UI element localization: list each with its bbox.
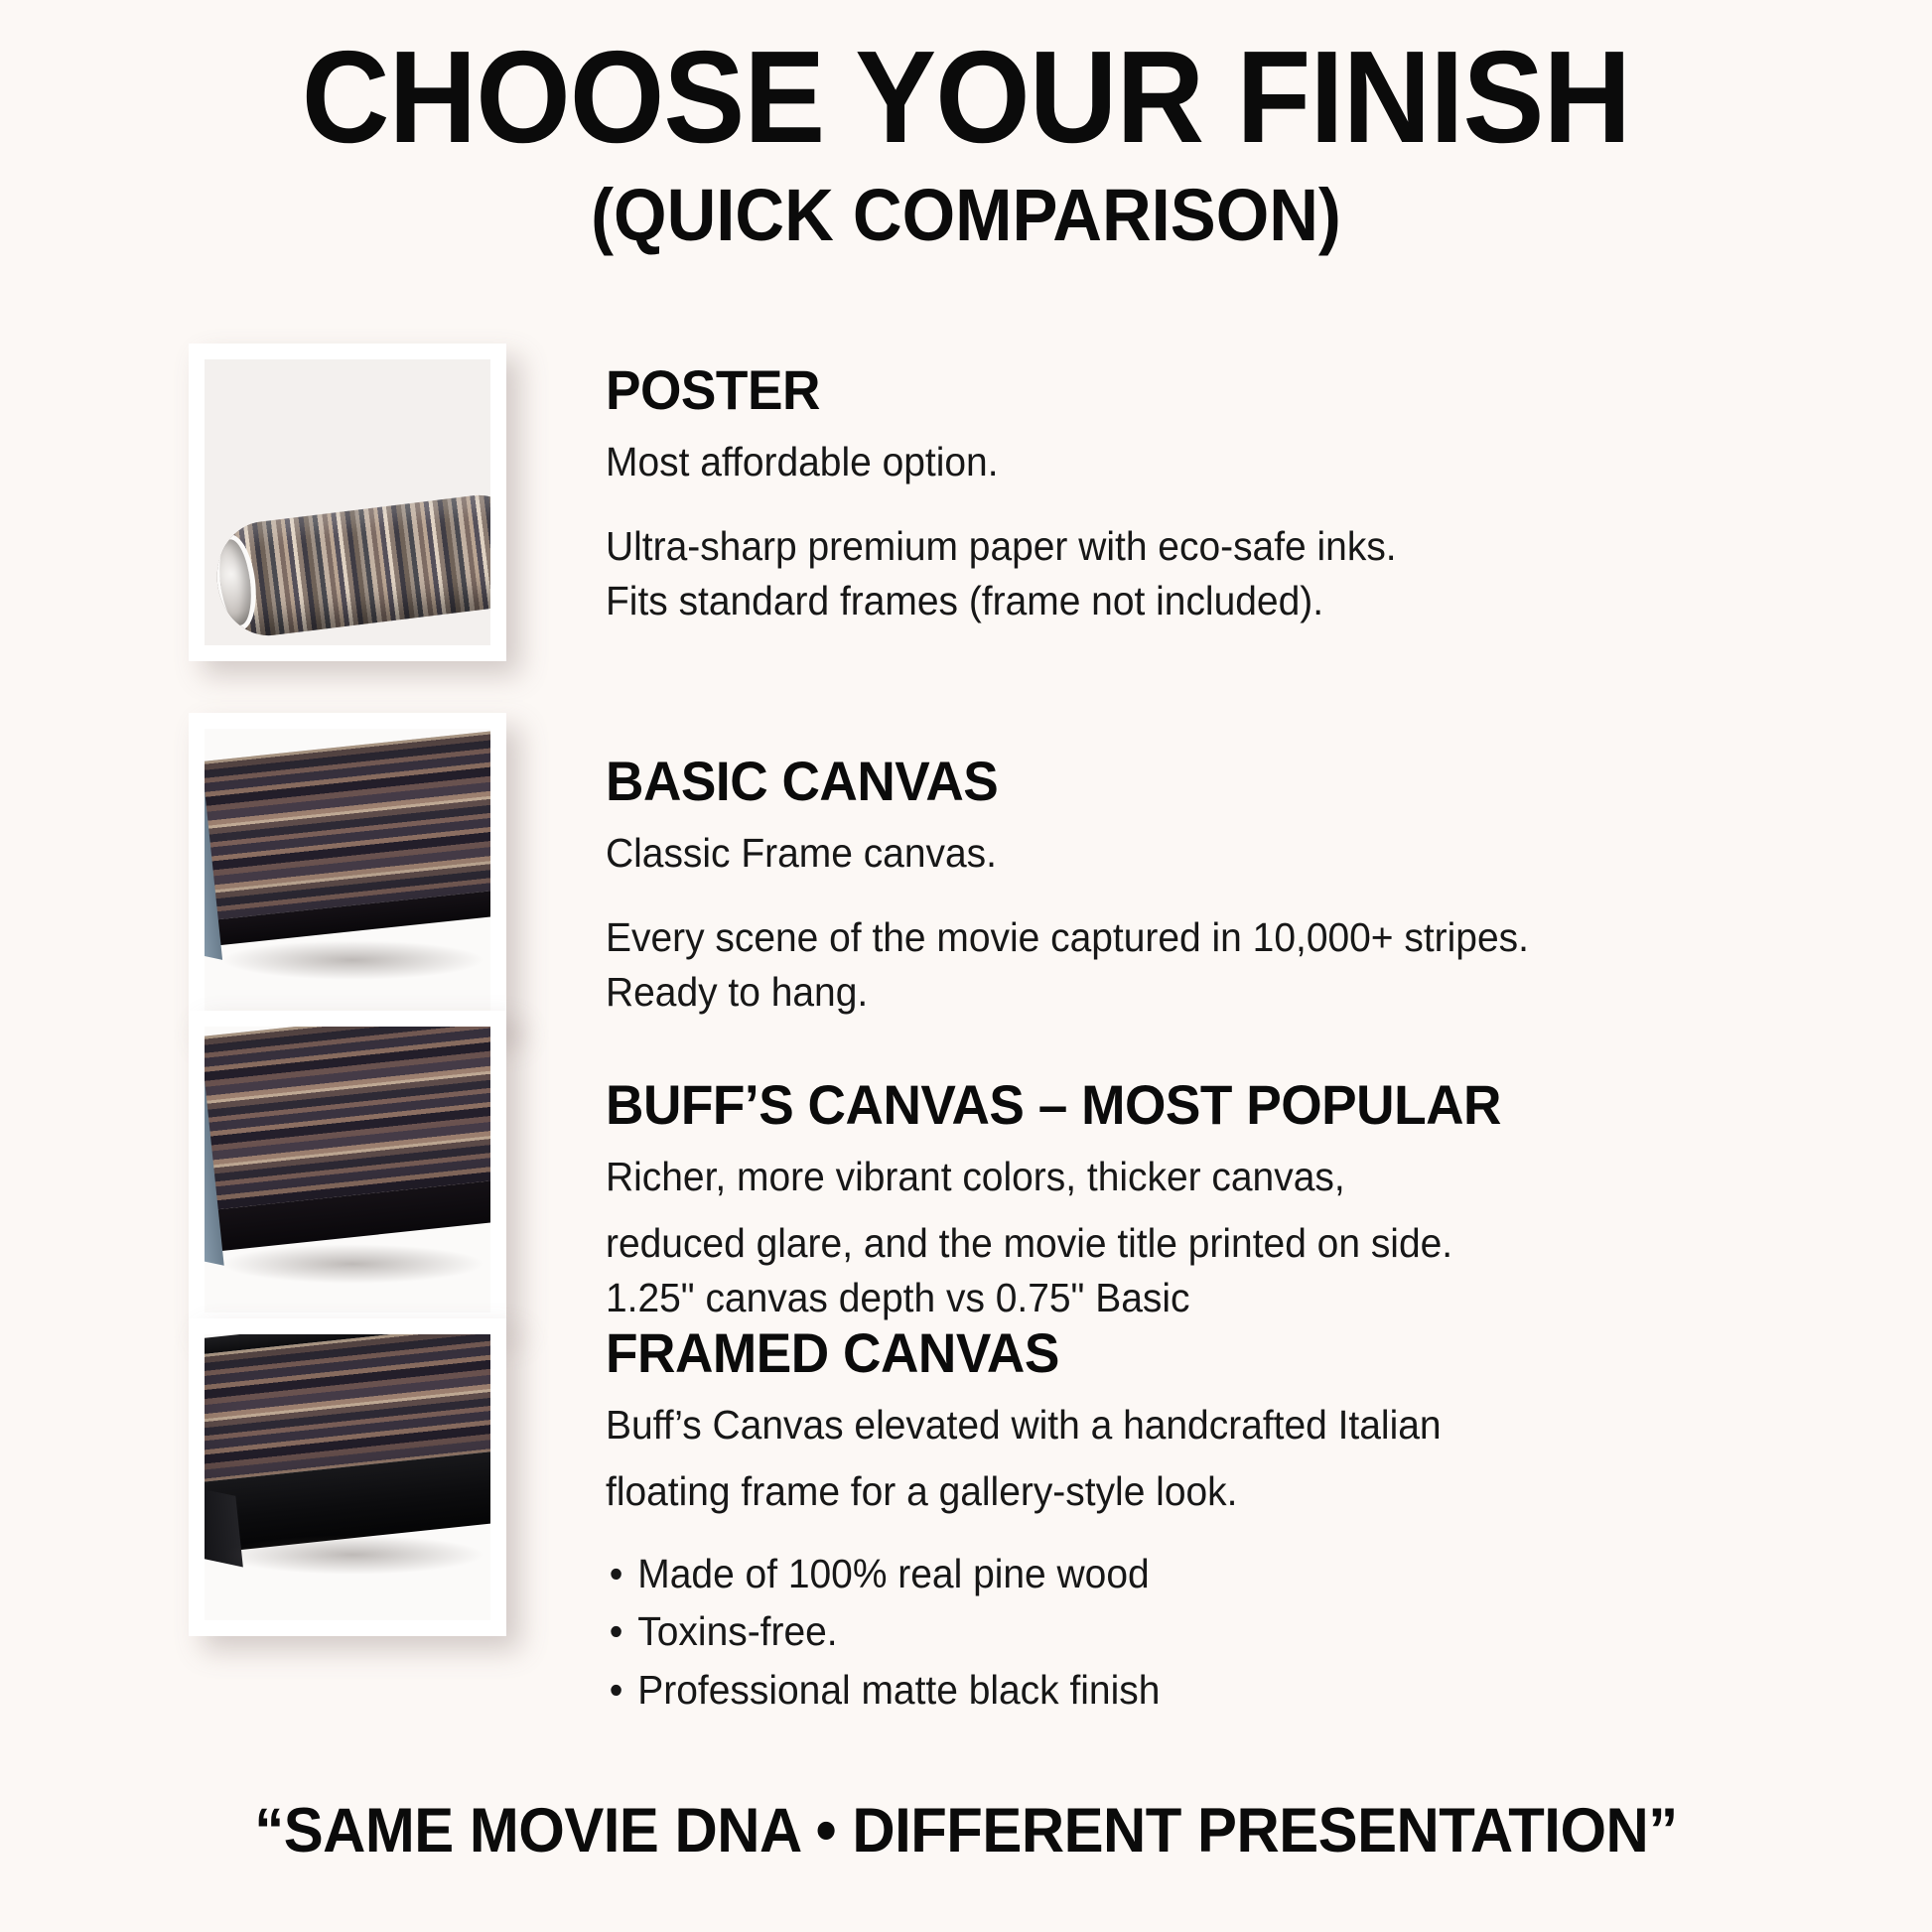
option-body-buffs-canvas: reduced glare, and the movie title print… <box>606 1216 1865 1326</box>
option-row-basic-canvas[interactable]: BASIC CANVAS Classic Frame canvas. Every… <box>0 707 1932 1005</box>
buffs-canvas-text: BUFF’S CANVAS – MOST POPULAR Richer, mor… <box>506 1005 1932 1326</box>
option-tagline-basic-canvas: Classic Frame canvas. <box>606 828 1865 879</box>
basic-canvas-slab-icon <box>205 729 490 950</box>
header: CHOOSE YOUR FINISH (QUICK COMPARISON) <box>0 0 1932 255</box>
buffs-canvas-slab-icon <box>205 1027 490 1256</box>
framed-canvas-image <box>205 1334 490 1620</box>
basic-canvas-dropshadow <box>221 940 484 980</box>
buffs-canvas-thumbnail-wrap[interactable] <box>0 1005 506 1328</box>
option-row-framed-canvas[interactable]: FRAMED CANVAS Buff’s Canvas elevated wit… <box>0 1312 1932 1640</box>
list-item: • Toxins-free. <box>606 1602 1865 1660</box>
option-title-buffs-canvas: BUFF’S CANVAS – MOST POPULAR <box>606 1074 1865 1136</box>
framed-canvas-dropshadow <box>221 1535 484 1575</box>
framed-canvas-bullet-list: • Made of 100% real pine wood • Toxins-f… <box>606 1545 1865 1719</box>
option-body-framed-canvas: floating frame for a gallery-style look. <box>606 1464 1865 1519</box>
poster-thumbnail-wrap[interactable] <box>0 338 506 661</box>
framed-canvas-thumbnail[interactable] <box>189 1318 506 1636</box>
basic-canvas-body-line-1: Every scene of the movie captured in 10,… <box>606 910 1865 965</box>
option-body-basic-canvas: Every scene of the movie captured in 10,… <box>606 910 1865 1021</box>
framed-canvas-thumbnail-wrap[interactable] <box>0 1312 506 1636</box>
list-item: • Professional matte black finish <box>606 1661 1865 1719</box>
framed-canvas-text: FRAMED CANVAS Buff’s Canvas elevated wit… <box>506 1312 1932 1719</box>
option-body-poster: Ultra-sharp premium paper with eco-safe … <box>606 519 1865 629</box>
poster-text: POSTER Most affordable option. Ultra-sha… <box>506 338 1932 629</box>
footer-tagline: “SAME MOVIE DNA • DIFFERENT PRESENTATION… <box>49 1795 1884 1866</box>
option-title-framed-canvas: FRAMED CANVAS <box>606 1322 1865 1384</box>
option-tagline-buffs-canvas: Richer, more vibrant colors, thicker can… <box>606 1152 1865 1202</box>
basic-canvas-thumbnail-wrap[interactable] <box>0 707 506 1031</box>
bullet-dot-icon: • <box>610 1545 623 1602</box>
list-item: • Made of 100% real pine wood <box>606 1545 1865 1602</box>
option-list: POSTER Most affordable option. Ultra-sha… <box>0 338 1932 1640</box>
finish-comparison-infographic: CHOOSE YOUR FINISH (QUICK COMPARISON) PO… <box>0 0 1932 1932</box>
buffs-canvas-body-line-1: reduced glare, and the movie title print… <box>606 1216 1865 1271</box>
page-subtitle: (QUICK COMPARISON) <box>68 175 1864 255</box>
option-title-poster: POSTER <box>606 359 1865 421</box>
poster-body-line-1: Ultra-sharp premium paper with eco-safe … <box>606 519 1865 574</box>
framed-canvas-body-line-1: floating frame for a gallery-style look. <box>606 1464 1865 1519</box>
option-row-poster[interactable]: POSTER Most affordable option. Ultra-sha… <box>0 338 1932 707</box>
framed-canvas-frame-icon <box>205 1334 490 1556</box>
bullet-dot-icon: • <box>610 1602 623 1660</box>
poster-body-line-2: Fits standard frames (frame not included… <box>606 574 1865 628</box>
option-title-basic-canvas: BASIC CANVAS <box>606 751 1865 812</box>
bullet-dot-icon: • <box>610 1661 623 1719</box>
page-title: CHOOSE YOUR FINISH <box>68 28 1864 167</box>
poster-image <box>205 359 490 645</box>
buffs-canvas-thumbnail[interactable] <box>189 1011 506 1328</box>
basic-canvas-text: BASIC CANVAS Classic Frame canvas. Every… <box>506 707 1932 1021</box>
bullet-text: Toxins-free. <box>637 1608 837 1654</box>
bullet-text: Made of 100% real pine wood <box>637 1551 1149 1596</box>
buffs-canvas-image <box>205 1027 490 1312</box>
basic-canvas-thumbnail[interactable] <box>189 713 506 1031</box>
option-tagline-poster: Most affordable option. <box>606 437 1865 487</box>
buffs-canvas-dropshadow <box>221 1244 484 1284</box>
bullet-text: Professional matte black finish <box>637 1667 1160 1713</box>
basic-canvas-image <box>205 729 490 1015</box>
option-tagline-framed-canvas: Buff’s Canvas elevated with a handcrafte… <box>606 1400 1865 1450</box>
option-row-buffs-canvas[interactable]: BUFF’S CANVAS – MOST POPULAR Richer, mor… <box>0 1005 1932 1312</box>
poster-thumbnail[interactable] <box>189 344 506 661</box>
